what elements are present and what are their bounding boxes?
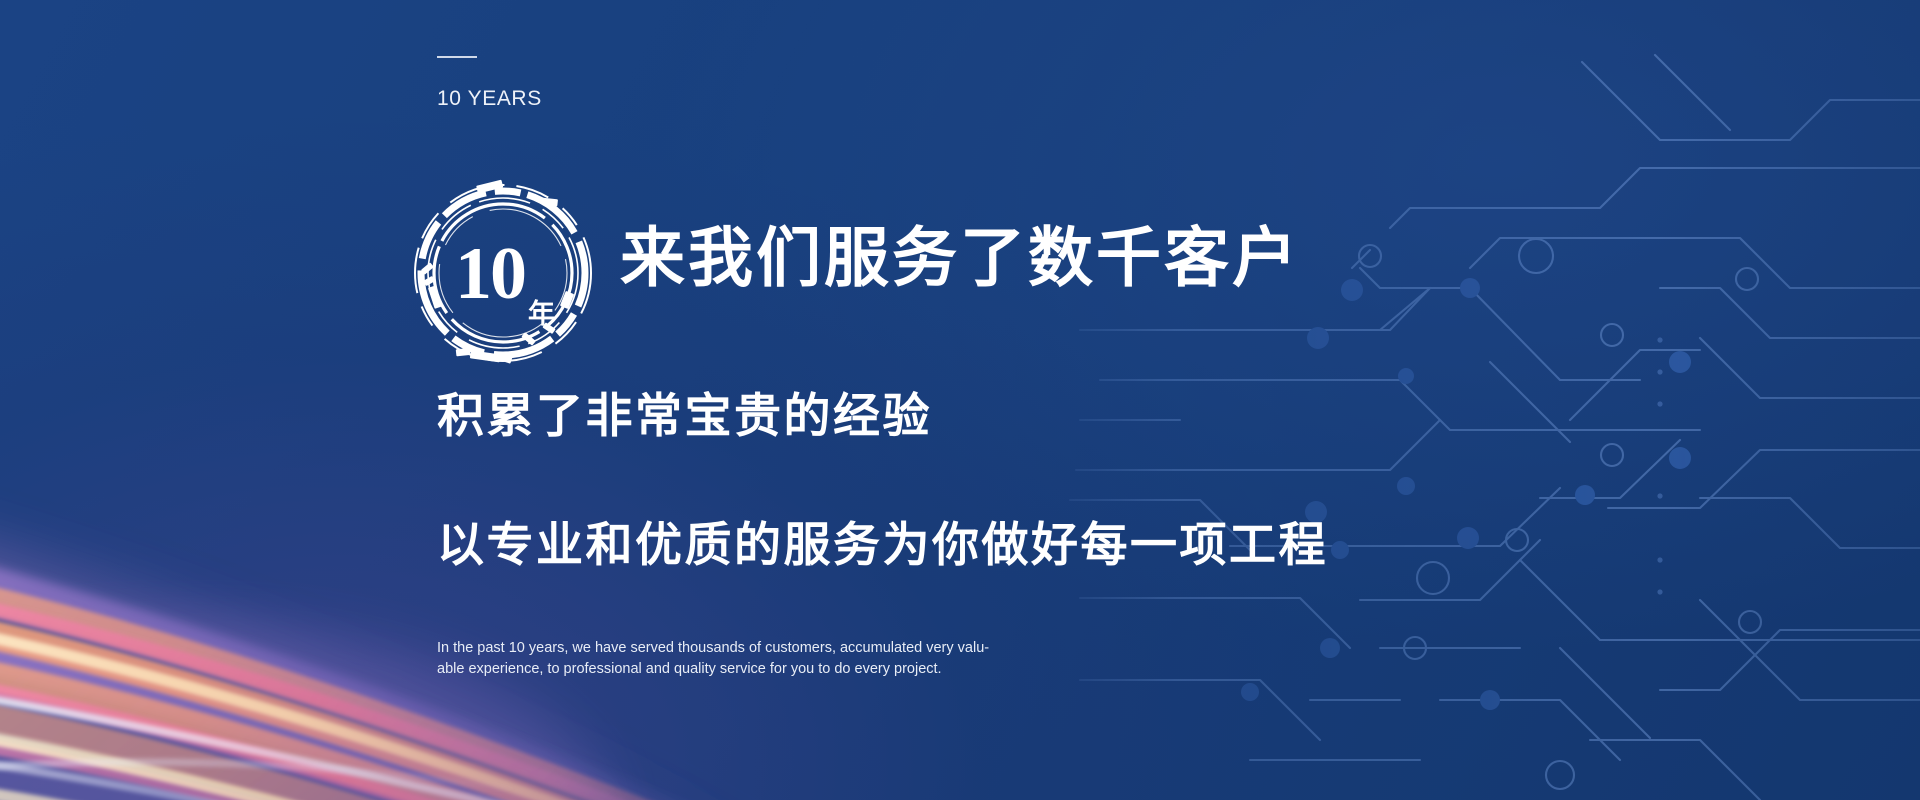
emblem-number: 10 <box>455 237 525 311</box>
ten-years-emblem: 10 年 <box>408 178 598 368</box>
caption-line-2: able experience, to professional and qua… <box>437 659 977 680</box>
caption-line-1: In the past 10 years, we have served tho… <box>437 638 977 659</box>
promo-banner: 10 YEARS <box>0 0 1920 800</box>
english-caption: In the past 10 years, we have served tho… <box>437 638 977 680</box>
emblem-unit: 年 <box>528 301 555 328</box>
subheadline-line-1: 积累了非常宝贵的经验 <box>437 392 932 439</box>
subheadline-line-2: 以专业和优质的服务为你做好每一项工程 <box>437 521 1328 568</box>
eyebrow-divider <box>437 56 477 58</box>
emblem-text: 10 年 <box>408 178 598 368</box>
headline: 来我们服务了数千客户 <box>620 225 1300 290</box>
banner-content: 10 YEARS <box>0 0 1920 800</box>
eyebrow-label: 10 YEARS <box>437 87 542 111</box>
